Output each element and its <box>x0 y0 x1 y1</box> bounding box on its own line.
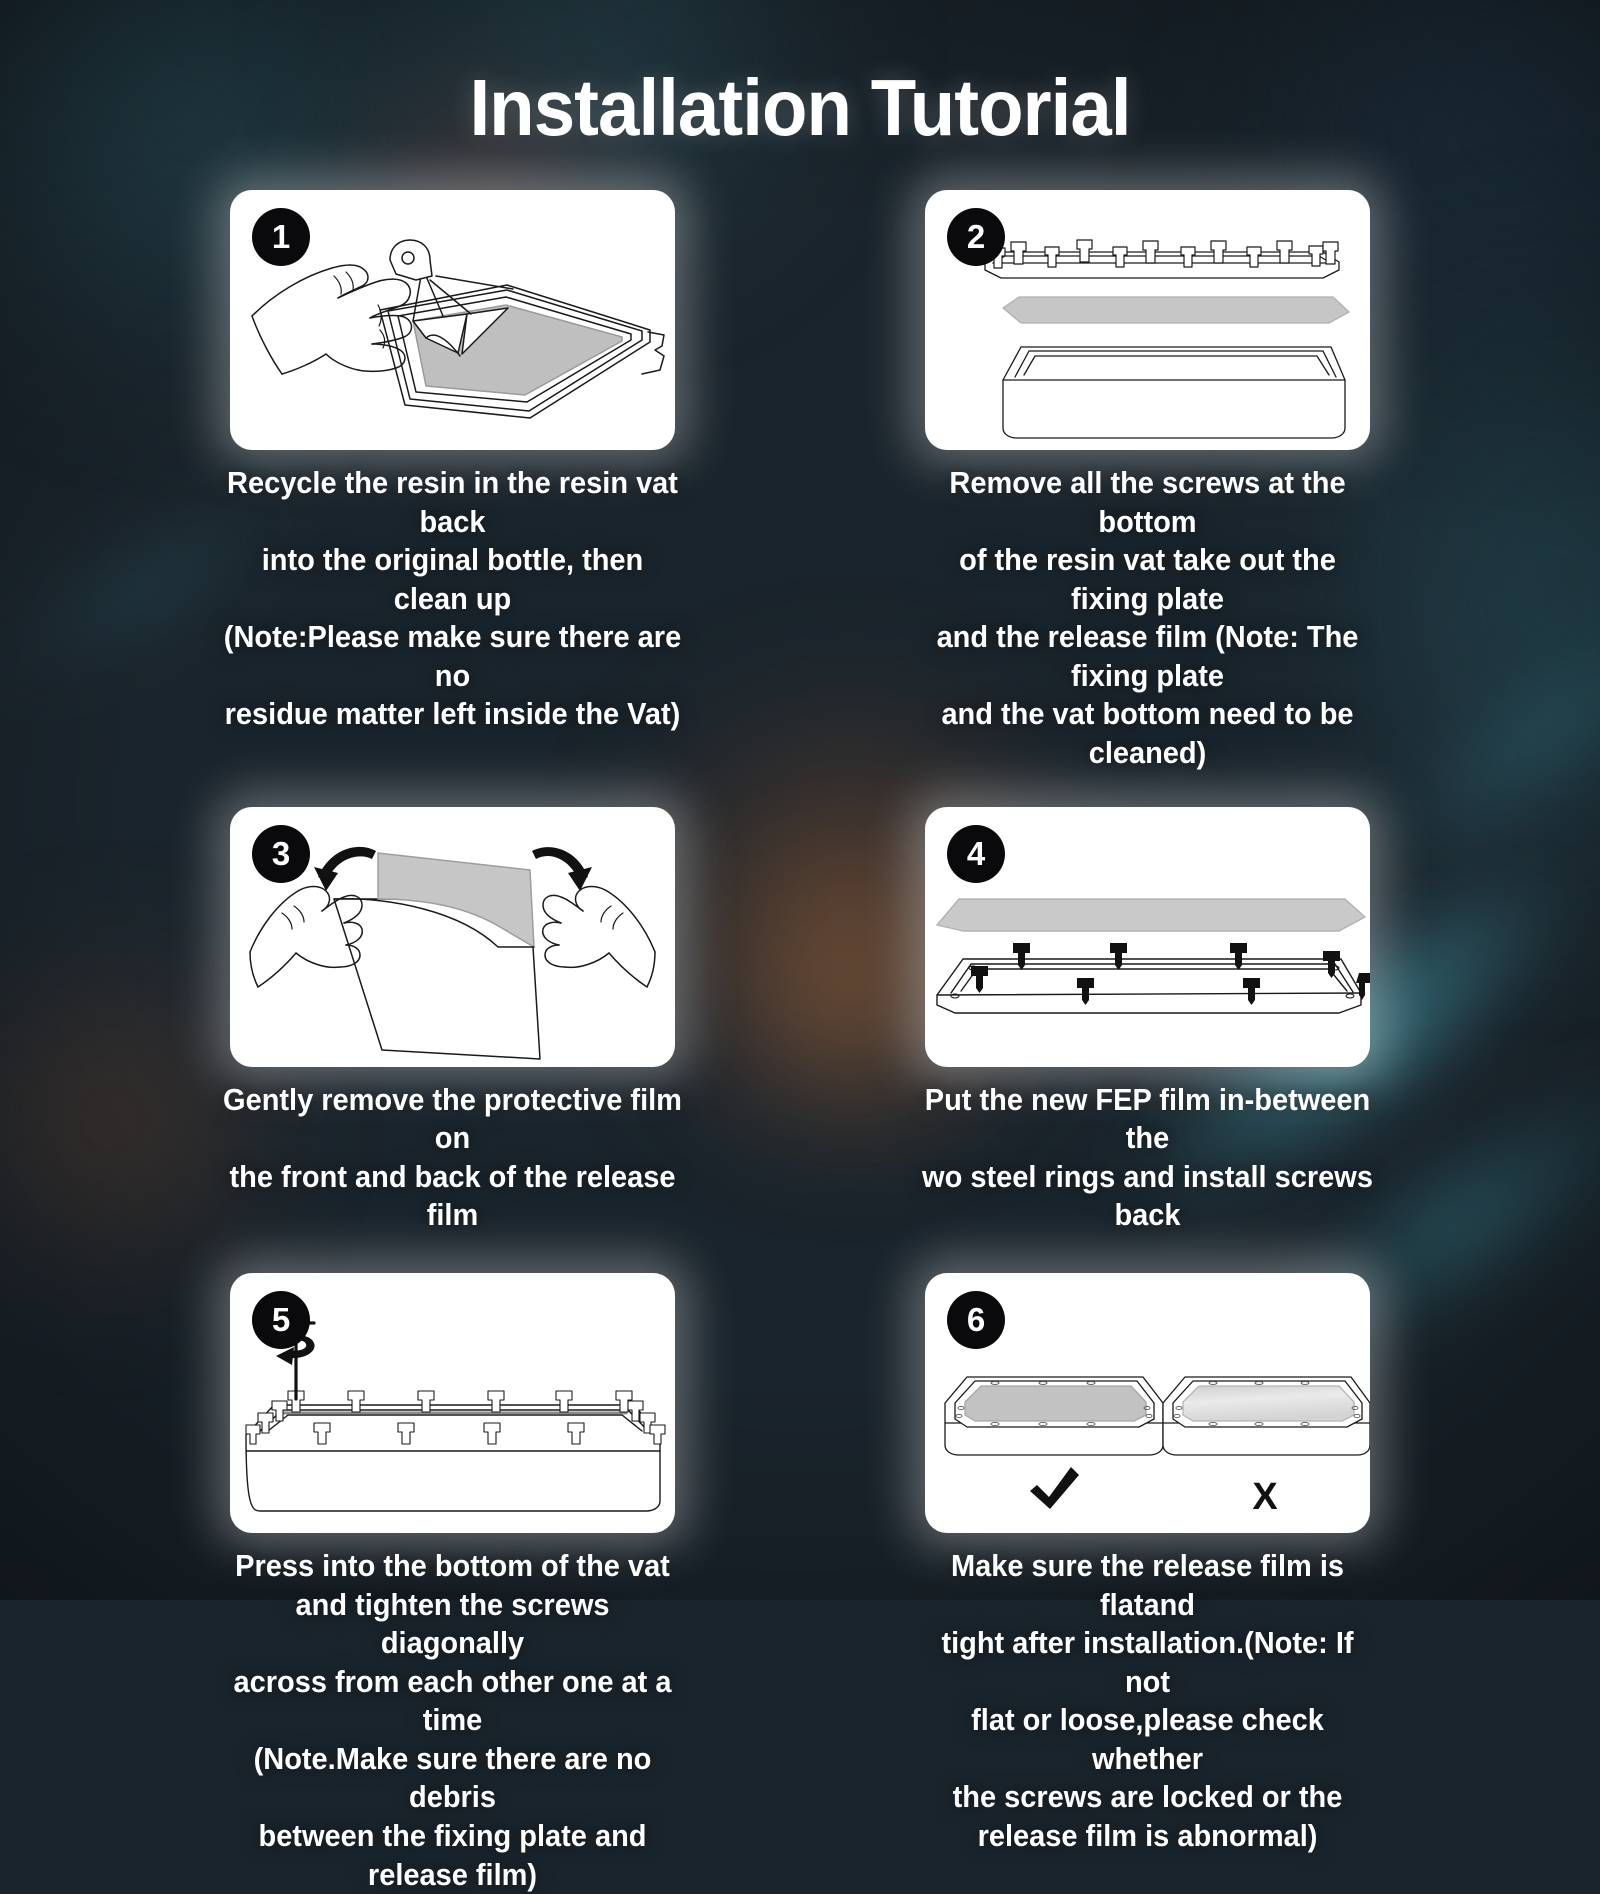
step-6: 6 <box>905 1273 1390 1894</box>
step-1-caption: Recycle the resin in the resin vat back … <box>222 464 683 734</box>
step-5: 5 <box>210 1273 695 1894</box>
check-icon <box>1030 1467 1079 1509</box>
steps-row-2: 3 <box>0 807 1600 1235</box>
step-5-badge: 5 <box>252 1291 310 1349</box>
x-mark-icon: X <box>1252 1476 1278 1518</box>
step-6-badge: 6 <box>947 1291 1005 1349</box>
step-1-badge: 1 <box>252 208 310 266</box>
tutorial-page: Installation Tutorial 1 <box>0 0 1600 1600</box>
step-2-caption: Remove all the screws at the bottom of t… <box>917 464 1378 773</box>
step-2-badge: 2 <box>947 208 1005 266</box>
step-4-panel: 4 <box>925 807 1370 1067</box>
step-1-panel: 1 <box>230 190 675 450</box>
step-4: 4 <box>905 807 1390 1235</box>
step-1: 1 <box>210 190 695 773</box>
step-5-caption: Press into the bottom of the vat and tig… <box>222 1547 683 1894</box>
steps-row-3: 5 <box>0 1273 1600 1894</box>
page-title: Installation Tutorial <box>56 62 1544 154</box>
step-3-panel: 3 <box>230 807 675 1067</box>
step-2: 2 <box>905 190 1390 773</box>
step-4-badge: 4 <box>947 825 1005 883</box>
steps-row-1: 1 <box>0 190 1600 773</box>
step-6-panel: 6 <box>925 1273 1370 1533</box>
step-3-badge: 3 <box>252 825 310 883</box>
step-5-panel: 5 <box>230 1273 675 1533</box>
steps-grid: 1 <box>0 190 1600 1894</box>
step-4-caption: Put the new FEP film in-between the wo s… <box>917 1081 1378 1235</box>
step-3: 3 <box>210 807 695 1235</box>
step-6-caption: Make sure the release film is flatand ti… <box>917 1547 1378 1856</box>
step-3-caption: Gently remove the protective film on the… <box>222 1081 683 1235</box>
step-2-panel: 2 <box>925 190 1370 450</box>
